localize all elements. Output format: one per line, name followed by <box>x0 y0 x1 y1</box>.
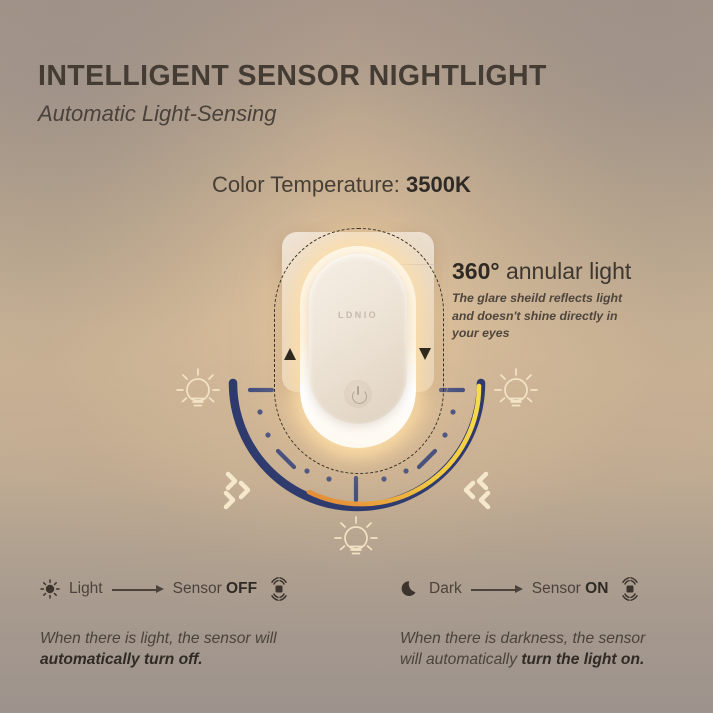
texture-overlay <box>0 0 713 713</box>
infographic-canvas: INTELLIGENT SENSOR NIGHTLIGHT Automatic … <box>0 0 713 713</box>
